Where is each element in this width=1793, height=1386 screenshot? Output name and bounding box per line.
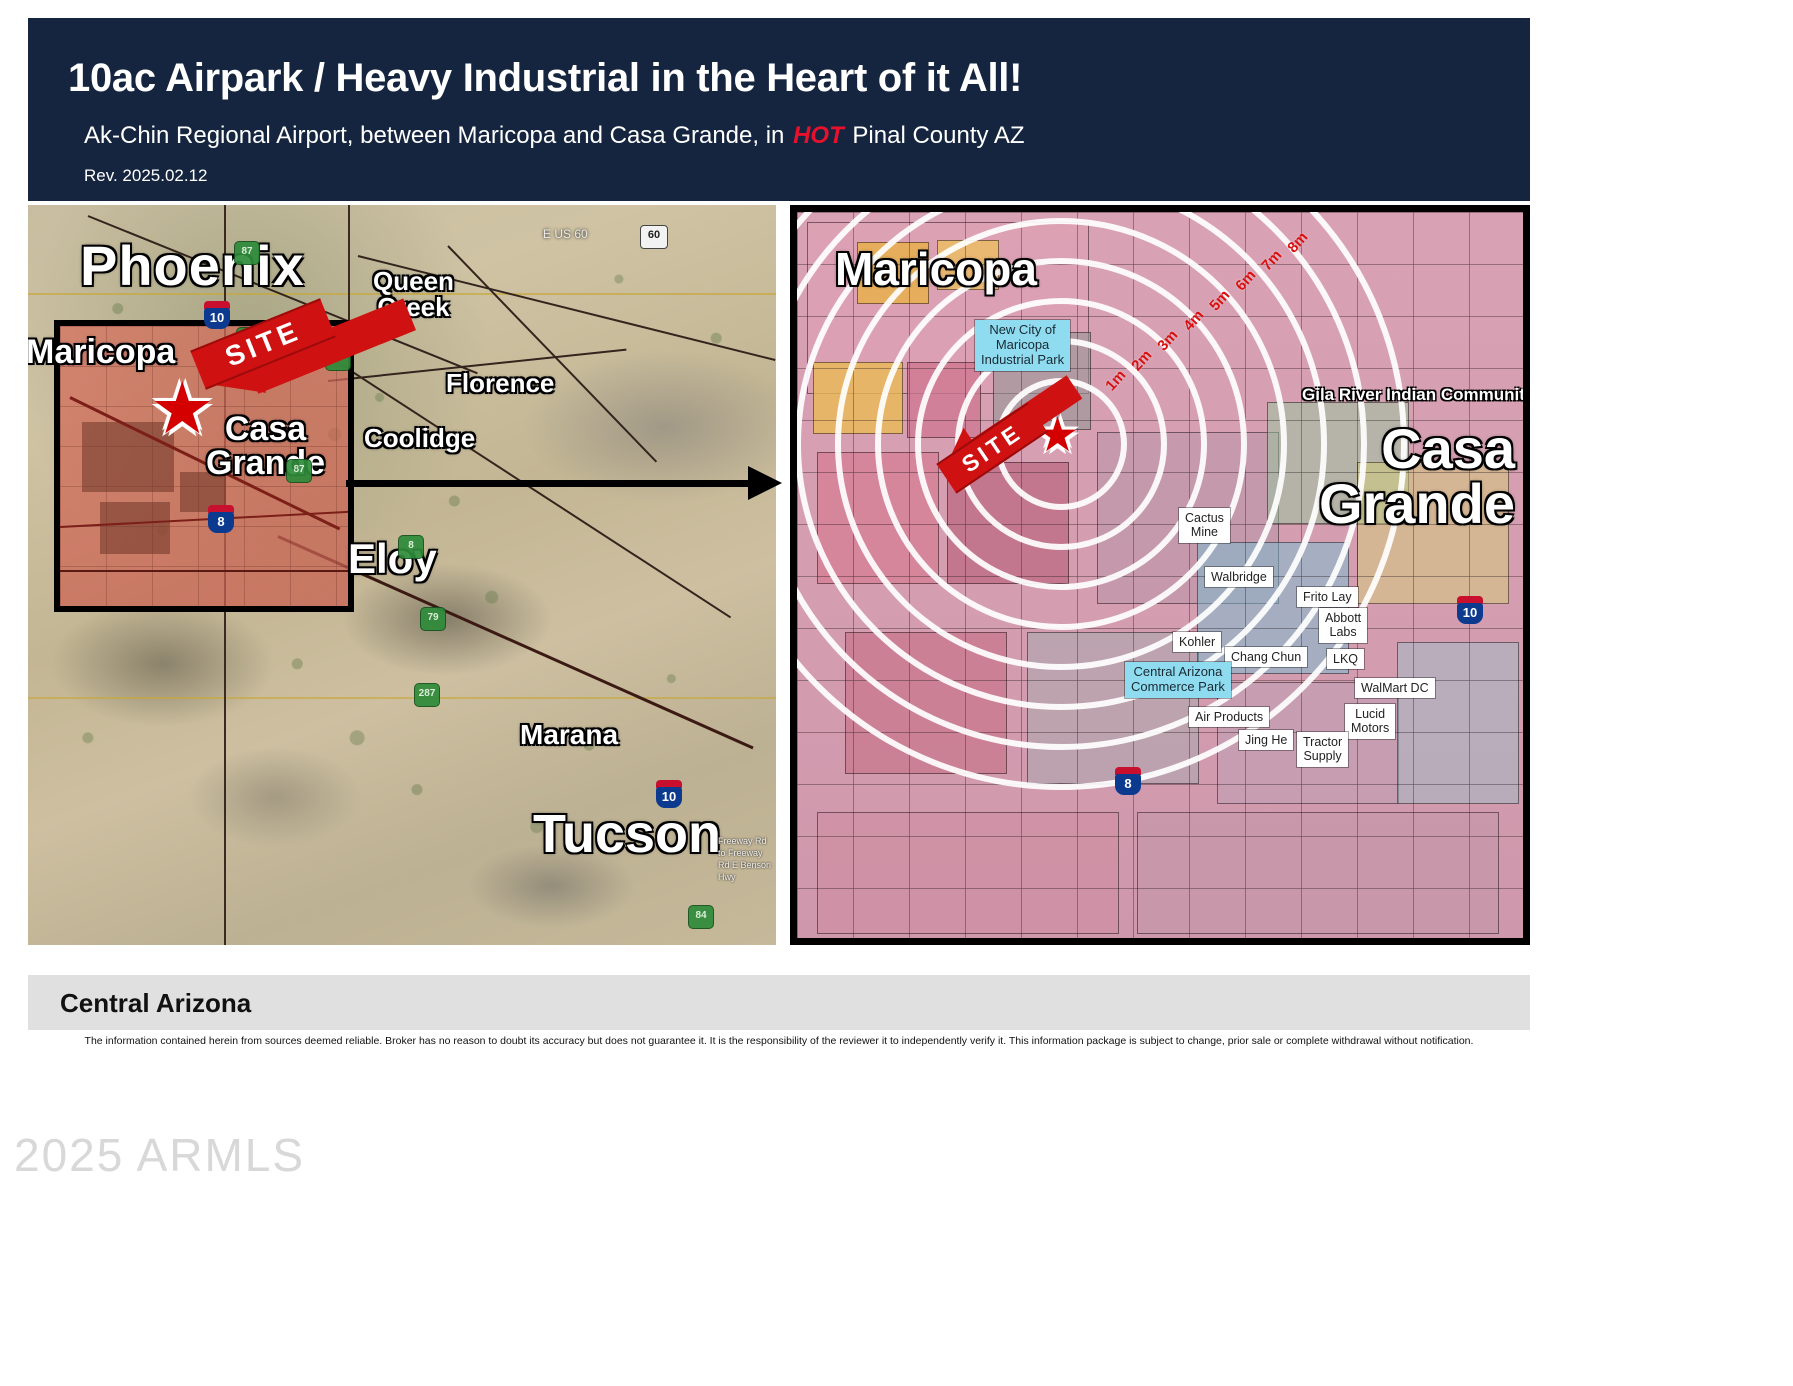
city-label-queen-creek: Queen Creek bbox=[373, 268, 454, 320]
callout-lucid-motors[interactable]: Lucid Motors bbox=[1345, 704, 1395, 739]
maps-container: E US 60 Phoenix Maricopa Casa Grande Que… bbox=[28, 205, 1530, 945]
callout-jing-he[interactable]: Jing He bbox=[1239, 730, 1293, 750]
callout-kohler[interactable]: Kohler bbox=[1173, 632, 1221, 652]
callout-tractor-supply[interactable]: Tractor Supply bbox=[1297, 732, 1348, 767]
callout-line2: Commerce Park bbox=[1131, 680, 1225, 695]
regional-satellite-map[interactable]: E US 60 Phoenix Maricopa Casa Grande Que… bbox=[28, 205, 776, 945]
queen-creek-line2: Creek bbox=[373, 294, 454, 320]
shield-number: 8 bbox=[1115, 774, 1141, 795]
callout-cactus-mine[interactable]: Cactus Mine bbox=[1179, 508, 1230, 543]
casa-grande-line1: Casa bbox=[206, 412, 325, 446]
shield-number: 10 bbox=[204, 308, 230, 329]
callout-line1: Tractor bbox=[1303, 735, 1342, 749]
callout-line3: Industrial Park bbox=[981, 353, 1064, 368]
footer-bar: Central Arizona bbox=[28, 975, 1530, 1030]
connector-arrow bbox=[346, 475, 786, 491]
road-label-us60: E US 60 bbox=[543, 227, 588, 241]
site-star-icon-detail: ★ bbox=[1036, 412, 1079, 460]
city-label-tucson: Tucson bbox=[533, 803, 721, 865]
callout-line2: Mine bbox=[1185, 525, 1224, 539]
connector-bar bbox=[346, 480, 750, 487]
callout-line1: New City of bbox=[981, 323, 1064, 338]
interstate-shield-8: 8 bbox=[208, 505, 234, 533]
callout-central-arizona-commerce-park[interactable]: Central Arizona Commerce Park bbox=[1125, 662, 1231, 698]
interstate-shield-8-detail: 8 bbox=[1115, 767, 1141, 795]
callout-abbott-labs[interactable]: Abbott Labs bbox=[1319, 608, 1367, 643]
header-banner: 10ac Airpark / Heavy Industrial in the H… bbox=[28, 18, 1530, 201]
interstate-shield-10-south: 10 bbox=[656, 780, 682, 808]
city-label-coolidge: Coolidge bbox=[364, 423, 475, 454]
state-route-shield-79: 79 bbox=[420, 607, 446, 631]
city-label-maricopa-detail: Maricopa bbox=[835, 242, 1037, 296]
page-subtitle: Ak-Chin Regional Airport, between Marico… bbox=[84, 122, 1025, 150]
connector-tip bbox=[748, 466, 782, 500]
state-route-shield-84b: 84 bbox=[688, 905, 714, 929]
city-label-florence: Florence bbox=[446, 368, 554, 399]
shield-number: 10 bbox=[1457, 603, 1483, 624]
city-label-maricopa: Maricopa bbox=[28, 333, 175, 372]
us-route-shield-60: 60 bbox=[640, 225, 668, 249]
callout-line2: Motors bbox=[1351, 721, 1389, 735]
callout-lkq[interactable]: LKQ bbox=[1327, 649, 1364, 669]
callout-line1: Cactus bbox=[1185, 511, 1224, 525]
callout-chang-chun[interactable]: Chang Chun bbox=[1225, 647, 1307, 667]
queen-creek-line1: Queen bbox=[373, 268, 454, 294]
city-label-marana: Marana bbox=[520, 719, 618, 751]
interstate-shield-10: 10 bbox=[204, 301, 230, 329]
disclaimer-text: The information contained herein from so… bbox=[28, 1035, 1530, 1047]
state-route-shield-87c: 87 bbox=[286, 459, 312, 483]
city-label-phoenix: Phoenix bbox=[80, 233, 305, 298]
freeway-notes: Freeway Rd to Freeway Rd E Benson Hwy bbox=[718, 835, 776, 884]
callout-maricopa-industrial-park[interactable]: New City of Maricopa Industrial Park bbox=[975, 320, 1070, 371]
callout-walbridge[interactable]: Walbridge bbox=[1205, 567, 1273, 587]
region-label-gila-river: Gila River Indian Community bbox=[1302, 385, 1530, 405]
hot-badge: HOT bbox=[793, 122, 844, 149]
detail-parcel-map[interactable]: 1m 2m 3m 4m 5m 6m 7m 8m Maricopa Casa Gr… bbox=[790, 205, 1530, 945]
casa-grande-detail-line2: Grande bbox=[1319, 477, 1515, 532]
city-label-casa-grande-detail: Casa Grande bbox=[1319, 422, 1515, 532]
inset-road bbox=[60, 570, 348, 572]
callout-line2: Maricopa bbox=[981, 338, 1064, 353]
state-route-shield-87: 87 bbox=[234, 241, 260, 265]
revision-date: Rev. 2025.02.12 bbox=[84, 166, 208, 186]
callout-frito-lay[interactable]: Frito Lay bbox=[1297, 587, 1358, 607]
interstate-shield-10-detail: 10 bbox=[1457, 596, 1483, 624]
armls-watermark: 2025 ARMLS bbox=[14, 1128, 305, 1182]
road-line bbox=[28, 697, 776, 699]
casa-grande-detail-line1: Casa bbox=[1319, 422, 1515, 477]
state-route-shield-84: 84 bbox=[325, 347, 351, 371]
inset-field bbox=[100, 502, 170, 554]
state-route-shield-8: 8 bbox=[398, 535, 424, 559]
footer-title: Central Arizona bbox=[60, 988, 251, 1019]
callout-air-products[interactable]: Air Products bbox=[1189, 707, 1269, 727]
callout-line2: Labs bbox=[1325, 625, 1361, 639]
subtitle-text-after: Pinal County AZ bbox=[846, 122, 1025, 149]
callout-line1: Lucid bbox=[1351, 707, 1389, 721]
shield-number: 10 bbox=[656, 787, 682, 808]
callout-line1: Abbott bbox=[1325, 611, 1361, 625]
shield-number: 8 bbox=[208, 512, 234, 533]
callout-line1: Central Arizona bbox=[1131, 665, 1225, 680]
callout-line2: Supply bbox=[1303, 749, 1342, 763]
page-title: 10ac Airpark / Heavy Industrial in the H… bbox=[68, 56, 1022, 101]
state-route-shield-287: 287 bbox=[414, 683, 440, 707]
callout-walmart-dc[interactable]: WalMart DC bbox=[1355, 678, 1435, 698]
subtitle-text-before: Ak-Chin Regional Airport, between Marico… bbox=[84, 122, 791, 149]
